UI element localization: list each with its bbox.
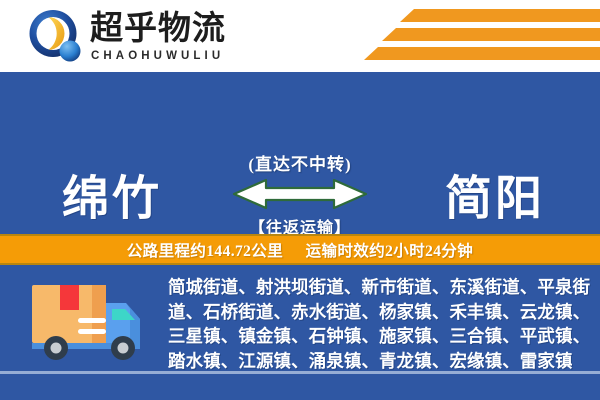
double-headed-arrow-icon bbox=[232, 177, 368, 211]
route-info-bar: 公路里程约144.72公里 运输时效约2小时24分钟 bbox=[0, 234, 600, 265]
coverage-area-list: 简城街道、射洪坝街道、新市街道、东溪街道、平泉街 道、石桥街道、赤水街道、杨家镇… bbox=[168, 275, 588, 373]
route-note-direct: (直达不中转) bbox=[185, 150, 415, 175]
coverage-line: 三星镇、镇金镇、石钟镇、施家镇、三合镇、平武镇、 bbox=[168, 324, 588, 349]
brand-name-cn: 超乎物流 bbox=[90, 12, 226, 48]
bottom-divider bbox=[0, 371, 600, 374]
orange-speed-stripes-icon bbox=[340, 9, 600, 65]
coverage-area-section: 简城街道、射洪坝街道、新市街道、东溪街道、平泉街 道、石桥街道、赤水街道、杨家镇… bbox=[0, 265, 600, 400]
brand-wordmark: 超乎物流 CHAOHUWULIU bbox=[90, 12, 226, 62]
circle-crescent-logo-icon bbox=[26, 8, 84, 66]
info-bar-content: 公路里程约144.72公里 运输时效约2小时24分钟 bbox=[127, 239, 473, 261]
duration-label: 运输时效约2小时24分钟 bbox=[306, 243, 474, 260]
brand-logo-block: 超乎物流 CHAOHUWULIU bbox=[26, 8, 226, 66]
coverage-line: 道、石桥街道、赤水街道、杨家镇、禾丰镇、云龙镇、 bbox=[168, 300, 588, 325]
origin-city: 绵竹 bbox=[62, 160, 162, 229]
route-panel: 绵竹 (直达不中转) 【往返运输】 简阳 bbox=[0, 72, 600, 234]
coverage-line: 简城街道、射洪坝街道、新市街道、东溪街道、平泉街 bbox=[168, 275, 588, 300]
destination-city: 简阳 bbox=[445, 160, 545, 229]
coverage-line: 踏水镇、江源镇、涌泉镇、青龙镇、宏缘镇、雷家镇 bbox=[168, 349, 588, 374]
logistics-route-banner: 超乎物流 CHAOHUWULIU 绵竹 (直达不中转) 【往返运输】 简阳 公路… bbox=[0, 0, 600, 400]
banner-header: 超乎物流 CHAOHUWULIU bbox=[0, 0, 600, 72]
delivery-truck-icon bbox=[30, 277, 155, 367]
route-middle-group: (直达不中转) 【往返运输】 bbox=[185, 150, 415, 238]
brand-name-en: CHAOHUWULIU bbox=[91, 50, 226, 62]
distance-label: 公路里程约144.72公里 bbox=[127, 243, 283, 260]
